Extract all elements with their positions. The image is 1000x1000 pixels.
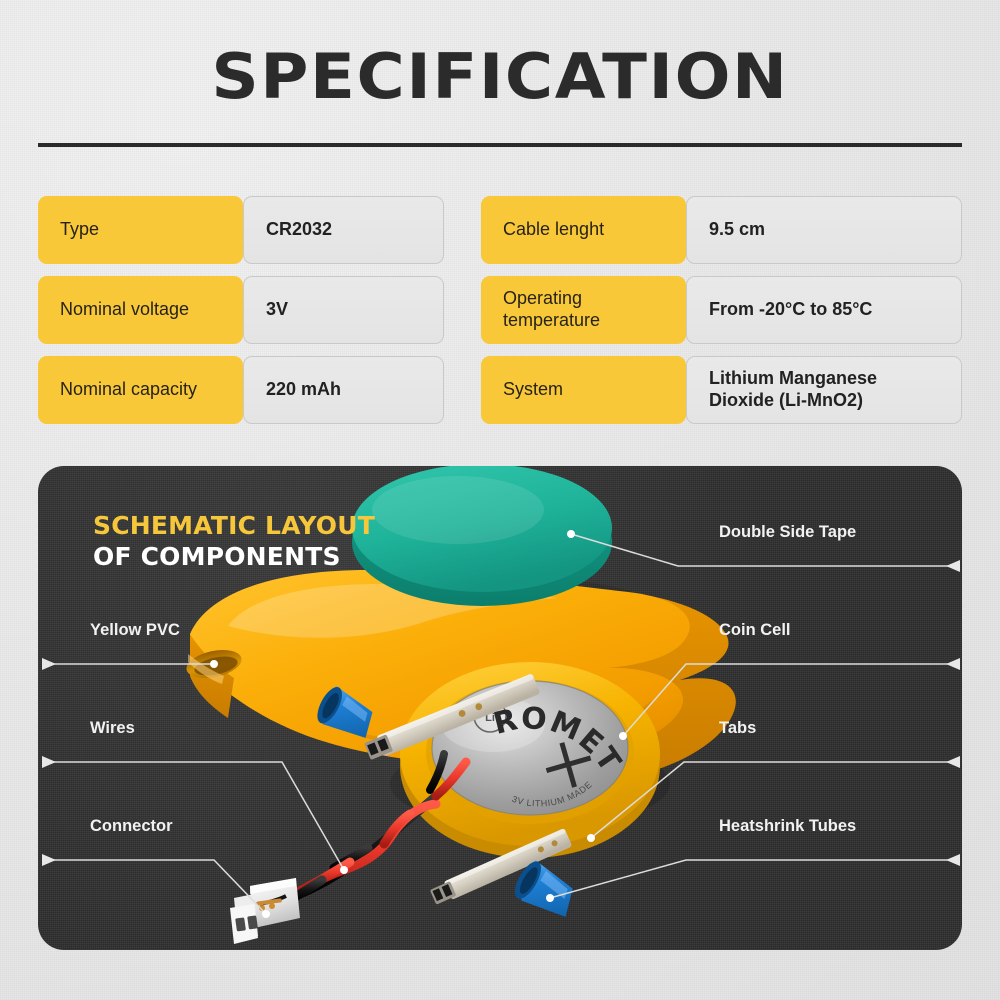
spec-value-operating-temperature: From -20°C to 85°C (686, 276, 962, 344)
schematic-panel: SCHEMATIC LAYOUT OF COMPONENTS (38, 466, 962, 950)
spec-label-cable-length: Cable lenght (481, 196, 686, 264)
spec-value-nominal-voltage: 3V (243, 276, 444, 344)
callout-double-side-tape: Double Side Tape (719, 523, 856, 542)
schematic-heading-line2: OF COMPONENTS (93, 541, 375, 572)
callout-heatshrink-tubes: Heatshrink Tubes (719, 817, 856, 836)
title-divider (38, 143, 962, 147)
grid-gap (444, 196, 481, 264)
spec-value-system: Lithium Manganese Dioxide (Li-MnO2) (686, 356, 962, 424)
spec-value-type: CR2032 (243, 196, 444, 264)
callout-coin-cell: Coin Cell (719, 621, 791, 640)
callout-connector: Connector (90, 817, 173, 836)
spec-label-operating-temperature: Operating temperature (481, 276, 686, 344)
callout-tabs: Tabs (719, 719, 756, 738)
grid-gap (444, 356, 481, 424)
specification-table: Type CR2032 Cable lenght 9.5 cm Nominal … (38, 196, 962, 424)
spec-label-type: Type (38, 196, 243, 264)
double-side-tape-artwork (352, 466, 612, 606)
page-title: SPECIFICATION (0, 46, 1000, 108)
specification-infographic: SPECIFICATION Type CR2032 Cable lenght 9… (0, 0, 1000, 1000)
schematic-heading-line1: SCHEMATIC LAYOUT (93, 510, 375, 541)
grid-gap (444, 276, 481, 344)
schematic-heading: SCHEMATIC LAYOUT OF COMPONENTS (93, 510, 375, 572)
spec-label-nominal-voltage: Nominal voltage (38, 276, 243, 344)
connector-artwork (230, 878, 300, 944)
spec-value-nominal-capacity: 220 mAh (243, 356, 444, 424)
spec-label-system: System (481, 356, 686, 424)
spec-label-nominal-capacity: Nominal capacity (38, 356, 243, 424)
spec-value-cable-length: 9.5 cm (686, 196, 962, 264)
callout-wires: Wires (90, 719, 135, 738)
callout-yellow-pvc: Yellow PVC (90, 621, 180, 640)
